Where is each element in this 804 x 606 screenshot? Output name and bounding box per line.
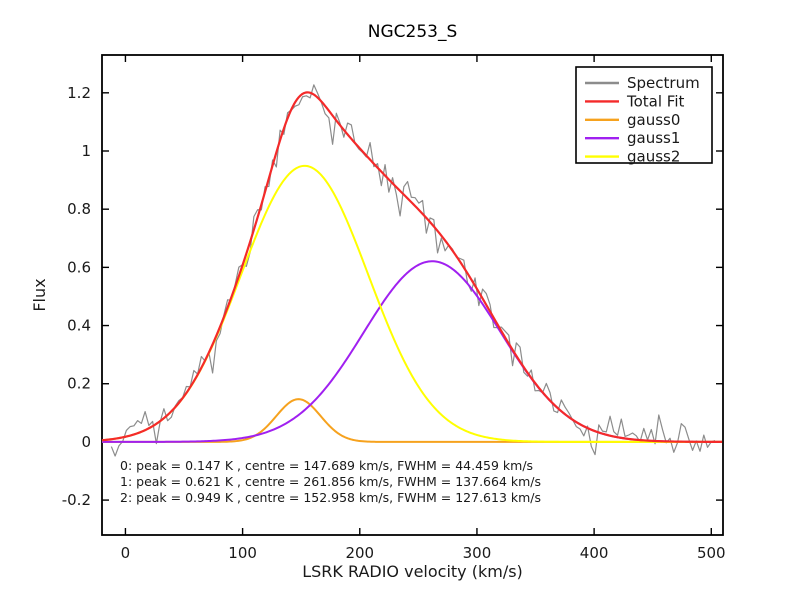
spectrum-chart-svg: 0100200300400500-0.200.20.40.60.811.2NGC… (0, 0, 804, 606)
legend-label-gauss2: gauss2 (627, 148, 680, 166)
spectrum-plot-figure: 0100200300400500-0.200.20.40.60.811.2NGC… (0, 0, 804, 606)
x-axis-label: LSRK RADIO velocity (km/s) (302, 562, 523, 581)
x-tick-label: 200 (345, 544, 374, 562)
legend-label-gauss0: gauss0 (627, 111, 680, 129)
series-gauss1 (102, 261, 722, 442)
x-tick-label: 300 (463, 544, 492, 562)
legend-label-spectrum: Spectrum (627, 74, 700, 92)
y-tick-label: 0.4 (67, 317, 91, 335)
legend-label-gauss1: gauss1 (627, 129, 680, 147)
legend-label-total-fit: Total Fit (626, 92, 685, 110)
fit-parameter-annotations: 0: peak = 0.147 K , centre = 147.689 km/… (120, 458, 541, 505)
series-gauss2 (102, 166, 722, 442)
fit-parameter-line-1: 1: peak = 0.621 K , centre = 261.856 km/… (120, 474, 541, 489)
y-tick-label: 0.8 (67, 200, 91, 218)
legend: SpectrumTotal Fitgauss0gauss1gauss2 (576, 67, 712, 166)
y-tick-label: 1 (81, 142, 91, 160)
x-tick-label: 500 (697, 544, 726, 562)
y-tick-label: 0 (81, 433, 91, 451)
y-tick-label: 1.2 (67, 84, 91, 102)
y-tick-label: 0.2 (67, 375, 91, 393)
x-tick-label: 400 (580, 544, 609, 562)
fit-parameter-line-0: 0: peak = 0.147 K , centre = 147.689 km/… (120, 458, 533, 473)
fit-parameter-line-2: 2: peak = 0.949 K , centre = 152.958 km/… (120, 490, 541, 505)
x-tick-label: 100 (228, 544, 257, 562)
y-axis-label: Flux (30, 278, 49, 311)
chart-title: NGC253_S (368, 22, 458, 42)
y-tick-label: 0.6 (67, 258, 91, 276)
y-tick-label: -0.2 (62, 491, 91, 509)
x-tick-label: 0 (121, 544, 131, 562)
